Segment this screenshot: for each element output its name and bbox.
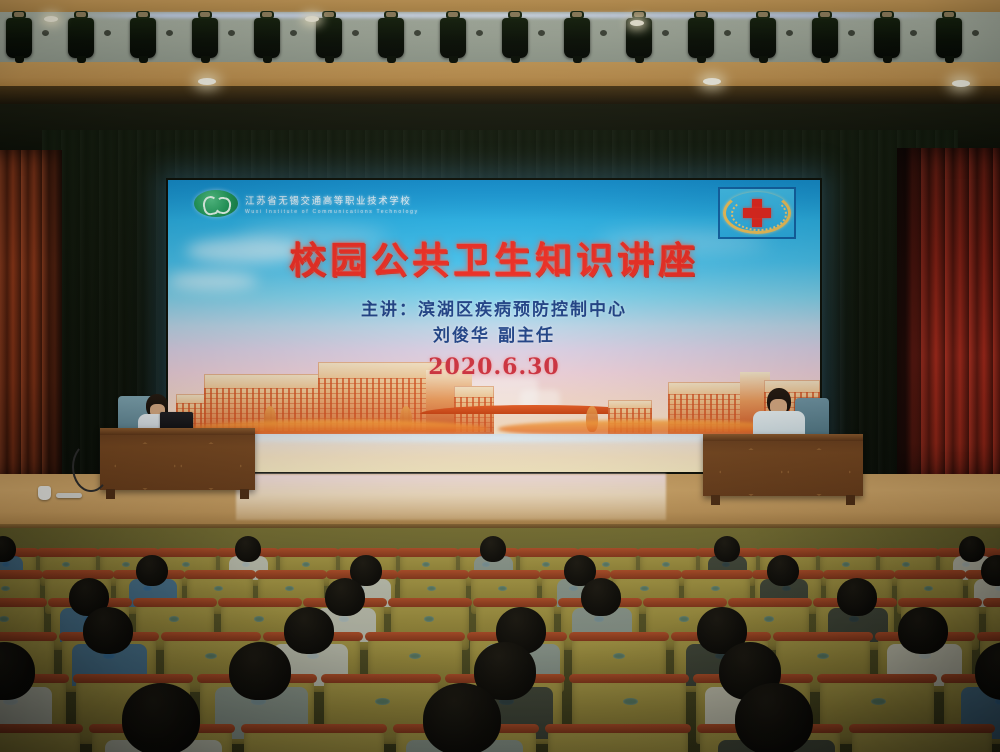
- audience-member-head: [122, 683, 200, 752]
- spotlight-yoke: [944, 12, 954, 17]
- seat-badge-icon: [871, 698, 886, 705]
- seat-trim: [161, 632, 261, 641]
- seat-badge-icon: [679, 616, 689, 621]
- speaker-org-line: 主讲：滨湖区疾病预防控制中心: [168, 295, 820, 320]
- seat-badge-icon: [422, 562, 430, 567]
- seat-badge-icon: [302, 562, 310, 567]
- truss-clamp: [166, 30, 173, 36]
- stage-spotlight-icon: [378, 18, 404, 58]
- stage-curtain-left: [0, 150, 62, 480]
- desk-surface: [703, 434, 863, 441]
- seat-trim: [817, 674, 937, 683]
- seat-badge-icon: [214, 586, 223, 591]
- seat-badge-icon: [254, 616, 264, 621]
- truss-clamp: [910, 30, 917, 36]
- stage-spotlight-icon: [316, 18, 342, 58]
- truss-clamp: [42, 30, 49, 36]
- audience-member-head: [325, 578, 365, 616]
- seat-badge-icon: [424, 616, 434, 621]
- spotlight-yoke: [634, 12, 644, 17]
- spotlight-yoke: [200, 12, 210, 17]
- audience-member-head: [480, 536, 506, 562]
- lecture-title: 校园公共卫生知识讲座: [168, 230, 820, 284]
- spotlight-yoke: [76, 12, 86, 17]
- seat-trim: [42, 570, 114, 579]
- seat-badge-icon: [285, 586, 294, 591]
- spotlight-yoke: [448, 12, 458, 17]
- screen-light-spill: [236, 474, 666, 520]
- seat-badge-icon: [902, 562, 910, 567]
- seat-trim: [241, 724, 387, 733]
- school-emblem-icon: [194, 190, 238, 217]
- stage-spotlight-icon: [192, 18, 218, 58]
- seat-trim: [681, 570, 753, 579]
- seat-trim: [473, 598, 557, 607]
- truss-bulb-icon: [44, 16, 58, 22]
- seat-badge-icon: [409, 653, 421, 659]
- seat-trim: [898, 598, 982, 607]
- truss-bulb-icon: [630, 20, 644, 26]
- spotlight-yoke: [882, 12, 892, 17]
- seat-badge-icon: [662, 562, 670, 567]
- seat-trim: [977, 632, 1000, 641]
- seat-trim: [184, 570, 256, 579]
- desk-leg: [106, 489, 115, 499]
- truss-clamp: [228, 30, 235, 36]
- seat-trim: [569, 632, 669, 641]
- seat-badge-icon: [62, 562, 70, 567]
- seat-badge-icon: [169, 616, 179, 621]
- led-screen[interactable]: 江苏省无锡交通高等职业技术学校 Wuxi Institute of Commun…: [168, 180, 820, 472]
- desk-panel-ornament: [114, 442, 176, 490]
- ceiling-downlight-icon: [703, 78, 721, 85]
- spotlight-yoke: [758, 12, 768, 17]
- seat-badge-icon: [122, 562, 130, 567]
- seat-badge-icon: [182, 562, 190, 567]
- audience-member-head: [229, 642, 291, 700]
- truss-bulb-icon: [305, 16, 319, 22]
- truss-clamp: [476, 30, 483, 36]
- seat-trim: [0, 570, 43, 579]
- school-name-chinese: 江苏省无锡交通高等职业技术学校: [245, 193, 419, 207]
- stage-spotlight-icon: [936, 18, 962, 58]
- audience-member-head: [136, 555, 168, 586]
- truss-clamp: [848, 30, 855, 36]
- audience-member-head: [735, 683, 813, 752]
- lecture-date: 2020.6.30: [168, 354, 820, 380]
- seat-trim: [773, 632, 873, 641]
- seat-trim: [637, 548, 699, 557]
- seat-trim: [0, 724, 83, 733]
- stage-spotlight-icon: [750, 18, 776, 58]
- truss-clamp: [724, 30, 731, 36]
- seat-trim: [321, 674, 441, 683]
- truss-clamp: [538, 30, 545, 36]
- ceiling-downlight-icon: [952, 80, 970, 87]
- seat-badge-icon: [613, 653, 625, 659]
- audience-member-head: [235, 536, 261, 562]
- stage-curtain-right-shadow: [897, 148, 923, 483]
- desk-surface: [100, 428, 255, 435]
- seat-trim: [73, 674, 193, 683]
- seat-trim: [517, 548, 579, 557]
- seated-audience: [0, 528, 1000, 752]
- seat-trim: [817, 548, 879, 557]
- desk-panel-ornament: [180, 442, 242, 490]
- seat-badge-icon: [498, 586, 507, 591]
- spotlight-yoke: [696, 12, 706, 17]
- truss-clamp: [104, 30, 111, 36]
- speaker-desk: [703, 434, 863, 496]
- seat-trim: [397, 548, 459, 557]
- seat-badge-icon: [924, 586, 933, 591]
- auditorium-photo: 江苏省无锡交通高等职业技术学校 Wuxi Institute of Commun…: [0, 0, 1000, 752]
- seat-badge-icon: [842, 562, 850, 567]
- floor-cable-run: [56, 493, 82, 498]
- truss-clamp: [290, 30, 297, 36]
- seat-badge-icon: [375, 698, 390, 705]
- seat-trim: [894, 570, 966, 579]
- stage-spotlight-icon: [68, 18, 94, 58]
- audience-member-head: [83, 607, 133, 654]
- seat-badge-icon: [764, 616, 774, 621]
- spotlight-yoke: [386, 12, 396, 17]
- spotlight-yoke: [820, 12, 830, 17]
- spotlight-yoke: [262, 12, 272, 17]
- seat-badge-icon: [711, 586, 720, 591]
- audience-member-head: [581, 578, 621, 616]
- seat-badge-icon: [817, 653, 829, 659]
- floor-cable: [72, 442, 110, 492]
- audience-seat[interactable]: [548, 728, 688, 752]
- audience-seat[interactable]: [852, 728, 992, 752]
- stage-spotlight-icon: [688, 18, 714, 58]
- seat-trim: [983, 598, 1000, 607]
- seat-badge-icon: [0, 616, 9, 621]
- seat-badge-icon: [205, 653, 217, 659]
- seat-trim: [157, 548, 219, 557]
- audience-seat[interactable]: [244, 728, 384, 752]
- seat-trim: [277, 548, 339, 557]
- audience-member-head: [767, 555, 799, 586]
- school-name-english: Wuxi Institute of Communications Technol…: [245, 209, 419, 215]
- spotlight-yoke: [572, 12, 582, 17]
- operator-desk: [100, 428, 255, 490]
- seat-trim: [545, 724, 691, 733]
- seat-badge-icon: [623, 698, 638, 705]
- audience-member-head: [959, 536, 985, 562]
- stage-spotlight-icon: [564, 18, 590, 58]
- truss-clamp: [414, 30, 421, 36]
- stage-spotlight-icon: [130, 18, 156, 58]
- stage-spotlight-icon: [6, 18, 32, 58]
- seat-trim: [877, 548, 939, 557]
- desk-leg: [240, 489, 249, 499]
- seat-trim: [643, 598, 727, 607]
- stage-spotlight-icon: [502, 18, 528, 58]
- spotlight-yoke: [324, 12, 334, 17]
- seat-badge-icon: [542, 562, 550, 567]
- truss-clamp: [972, 30, 979, 36]
- seat-badge-icon: [427, 586, 436, 591]
- stage-spotlight-icon: [254, 18, 280, 58]
- seat-trim: [37, 548, 99, 557]
- school-logo: 江苏省无锡交通高等职业技术学校 Wuxi Institute of Commun…: [194, 190, 419, 217]
- desk-leg: [711, 495, 720, 505]
- wreath-shape: [723, 192, 791, 234]
- stage-spotlight-icon: [874, 18, 900, 58]
- truss-clamp: [662, 30, 669, 36]
- seat-trim: [397, 570, 469, 579]
- seat-trim: [365, 632, 465, 641]
- seat-badge-icon: [1, 586, 10, 591]
- audience-member-head: [714, 536, 740, 562]
- spotlight-yoke: [14, 12, 24, 17]
- seat-trim: [133, 598, 217, 607]
- truss-clamp: [786, 30, 793, 36]
- desk-leg: [846, 495, 855, 505]
- spotlight-yoke: [510, 12, 520, 17]
- seat-trim: [728, 598, 812, 607]
- audience-member-head: [284, 607, 334, 654]
- stage-spotlight-icon: [812, 18, 838, 58]
- ceiling-downlight-icon: [198, 78, 216, 85]
- seat-trim: [569, 674, 689, 683]
- floor-bottle: [38, 486, 51, 500]
- stage-spotlight-icon: [440, 18, 466, 58]
- spotlight-yoke: [138, 12, 148, 17]
- audience-seat[interactable]: [0, 728, 80, 752]
- seat-badge-icon: [640, 586, 649, 591]
- seat-trim: [255, 570, 327, 579]
- seat-trim: [610, 570, 682, 579]
- desk-panel-ornament: [787, 448, 851, 496]
- truss-clamp: [600, 30, 607, 36]
- seat-badge-icon: [602, 562, 610, 567]
- cross-horizontal-bar: [743, 208, 771, 218]
- audience-member-head: [837, 578, 877, 616]
- seat-trim: [468, 570, 540, 579]
- audience-member-head: [898, 607, 948, 654]
- truss-clamp: [352, 30, 359, 36]
- seat-trim: [388, 598, 472, 607]
- seat-trim: [0, 632, 57, 641]
- desk-panel-ornament: [719, 448, 783, 496]
- seat-trim: [0, 598, 47, 607]
- audience-member-head: [423, 683, 501, 752]
- ceiling-lower-band: [0, 62, 1000, 88]
- seat-trim: [218, 598, 302, 607]
- speaker-name-line: 刘俊华 副主任: [168, 321, 820, 346]
- seat-trim: [849, 724, 995, 733]
